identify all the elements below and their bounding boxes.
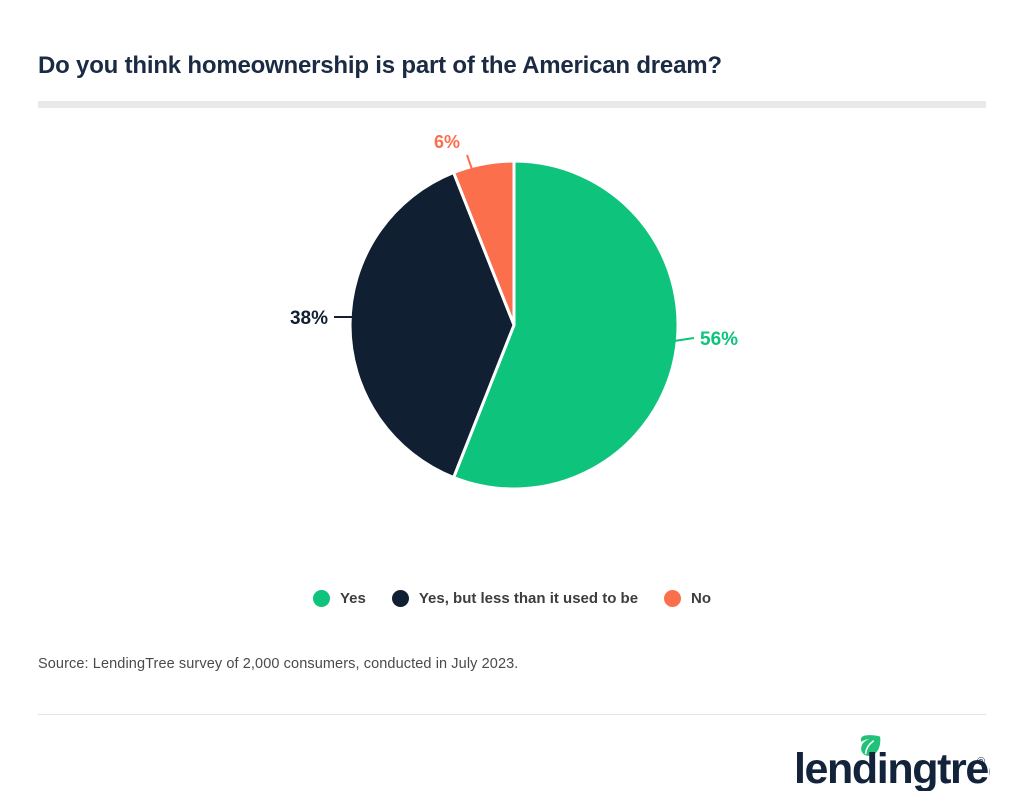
legend-swatch-no-icon xyxy=(664,590,681,607)
page-title: Do you think homeownership is part of th… xyxy=(38,52,958,81)
chart-page: Do you think homeownership is part of th… xyxy=(0,0,1024,809)
legend-label-no: No xyxy=(691,590,711,607)
legend-item-no[interactable]: No xyxy=(664,590,711,607)
chart-legend: Yes Yes, but less than it used to be No xyxy=(0,590,1024,607)
brand-trademark: ® xyxy=(977,756,985,768)
footer-divider xyxy=(38,714,986,715)
pie-label-no: 6% xyxy=(434,132,460,152)
pie-chart-graphic: 56% 38% 6% xyxy=(334,145,694,505)
legend-label-yes-but-less: Yes, but less than it used to be xyxy=(419,590,638,607)
legend-item-yes-but-less[interactable]: Yes, but less than it used to be xyxy=(392,590,638,607)
pie-chart: 56% 38% 6% xyxy=(0,120,1024,540)
legend-swatch-yes-but-less-icon xyxy=(392,590,409,607)
pie-label-yes: 56% xyxy=(700,329,738,350)
lendingtree-wordmark: lendingtree ® xyxy=(794,733,990,791)
legend-swatch-yes-icon xyxy=(313,590,330,607)
brand-wordmark-text: lendingtree xyxy=(794,745,990,791)
lendingtree-logo: lendingtree ® xyxy=(794,735,990,791)
legend-item-yes[interactable]: Yes xyxy=(313,590,366,607)
legend-label-yes: Yes xyxy=(340,590,366,607)
title-divider xyxy=(38,101,986,108)
pie-svg: 56% 38% 6% xyxy=(334,145,694,505)
source-note: Source: LendingTree survey of 2,000 cons… xyxy=(38,656,518,672)
pie-label-yes-but-less: 38% xyxy=(290,308,328,329)
